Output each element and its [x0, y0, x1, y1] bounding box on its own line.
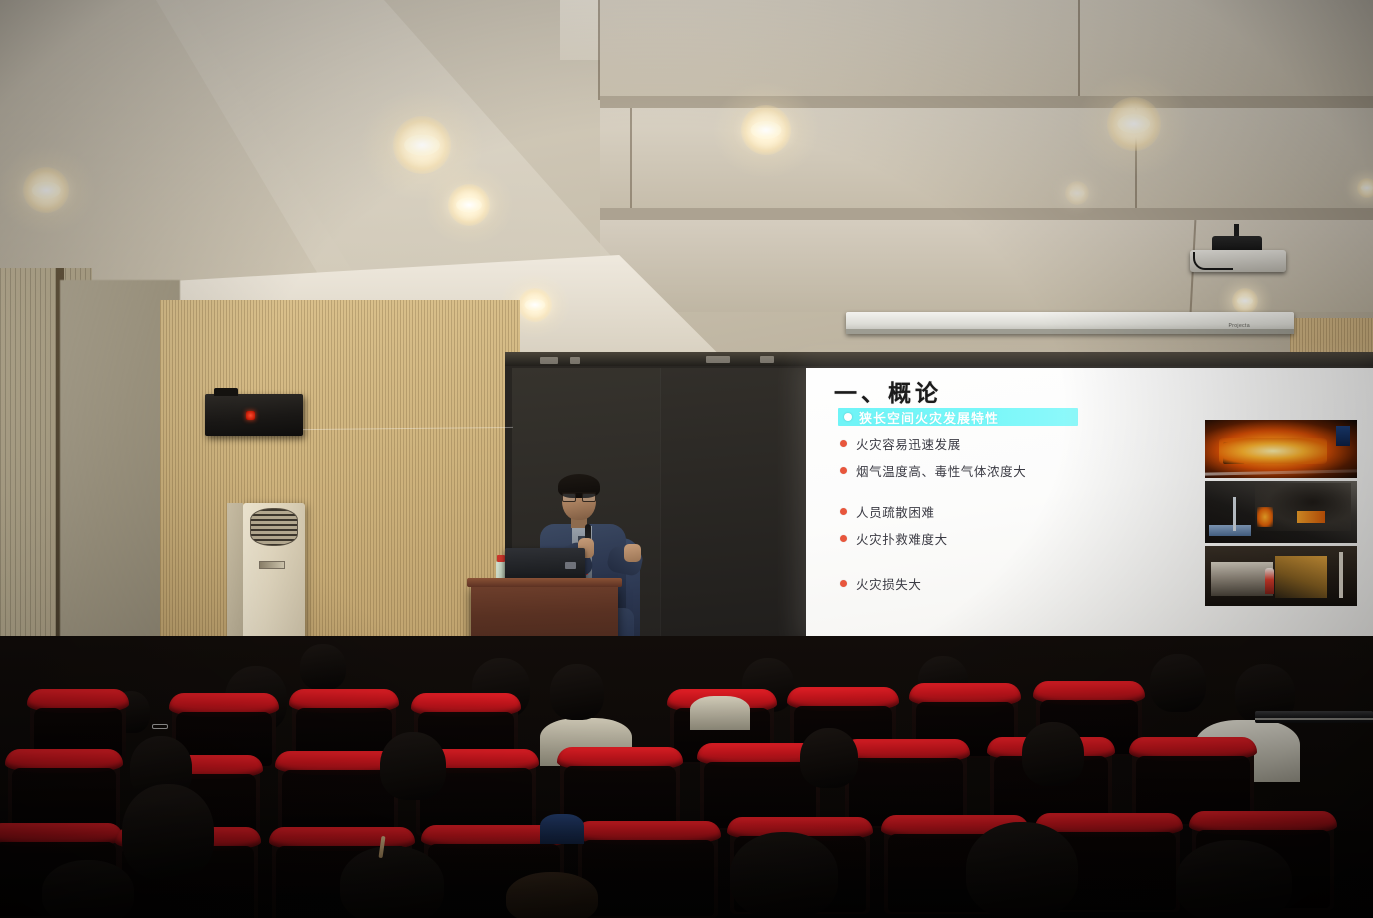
bullet-dot-icon — [840, 440, 847, 447]
audience-head — [730, 832, 838, 918]
ceiling-seam — [630, 108, 632, 208]
speaker-bracket — [214, 388, 238, 396]
rear-desk-rail-highlight — [1255, 718, 1373, 720]
seat — [8, 754, 120, 832]
audience-head — [550, 664, 604, 720]
section-bullet-dot-icon — [844, 413, 852, 421]
ceiling-downlight-icon — [23, 167, 69, 213]
ceiling-downlight-icon — [1107, 97, 1161, 151]
ceiling-downlight-icon — [518, 288, 552, 322]
ceiling-downlight-icon — [1357, 178, 1373, 198]
ceiling-slab-far — [600, 0, 1373, 96]
list-item: 火灾容易迅速发展 — [840, 434, 1120, 453]
burning-vehicle-photo — [1205, 420, 1357, 478]
slide-photo-column — [1205, 420, 1357, 609]
projection-screen-housing[interactable]: Projecta — [846, 312, 1294, 334]
ceiling-downlight-icon — [741, 105, 791, 155]
list-item: 人员疏散困难 — [840, 502, 1120, 521]
rear-desk-rail — [1255, 711, 1373, 723]
audience-head — [42, 860, 134, 918]
housing-bottom-rail — [846, 329, 1294, 334]
bullet-dot-icon — [840, 467, 847, 474]
stage-highlight — [760, 356, 774, 363]
presenter-right-hand — [624, 544, 641, 562]
bullet-dot-icon — [840, 535, 847, 542]
stage-backdrop-top-trim — [505, 352, 1373, 366]
bullet-text: 火灾损失大 — [856, 574, 922, 593]
ceiling-downlight-icon — [448, 184, 490, 226]
bullet-dot-icon — [840, 508, 847, 515]
bullet-dot-icon — [840, 580, 847, 587]
glasses-icon — [152, 724, 168, 729]
audience-head — [300, 644, 346, 690]
glasses-icon — [562, 492, 596, 499]
bottle-cap — [497, 555, 505, 562]
lectern-top-surface — [467, 578, 622, 587]
slide-title: 一、概论 — [834, 374, 942, 408]
projected-slide: 一、概论 狭长空间火灾发展特性 火灾容易迅速发展 烟气温度高、毒性气体浓度大 人… — [806, 368, 1373, 636]
ac-vent-grill-icon — [250, 508, 298, 546]
stage-highlight — [540, 357, 558, 364]
audience-seating — [0, 636, 1373, 918]
bullet-text: 烟气温度高、毒性气体浓度大 — [856, 461, 1026, 480]
list-item: 火灾扑救难度大 — [840, 529, 1120, 548]
audience-head — [1176, 840, 1292, 918]
slide-section-header: 狭长空间火灾发展特性 — [838, 408, 1078, 426]
audience-head — [966, 822, 1078, 918]
stage-highlight — [706, 356, 730, 363]
ceiling-seam — [1078, 0, 1080, 96]
projector-cable — [1193, 252, 1233, 270]
bullet-text: 火灾容易迅速发展 — [856, 434, 961, 453]
housing-brand-label: Projecta — [1228, 323, 1250, 329]
laptop-logo-icon — [565, 562, 576, 569]
audience-shoulder — [690, 696, 750, 730]
seat — [578, 826, 718, 918]
stage-highlight — [570, 357, 580, 364]
fire-aftermath-photo — [1205, 546, 1357, 606]
bullet-text: 人员疏散困难 — [856, 502, 935, 521]
speaker-power-led-icon — [246, 411, 255, 420]
ac-control-panel[interactable] — [259, 561, 285, 569]
list-item: 烟气温度高、毒性气体浓度大 — [840, 461, 1120, 480]
audience-head — [1150, 654, 1206, 712]
section-header-text: 狭长空间火灾发展特性 — [859, 408, 999, 427]
lecture-hall-photo: Projecta 一、概论 狭长空间火灾发展特性 火灾容易迅速发展 烟气温度高 — [0, 0, 1373, 918]
audience-head — [380, 732, 446, 800]
ceiling-downlight-icon — [1065, 181, 1089, 205]
ceiling-downlight-icon — [393, 116, 451, 174]
audience-shoulder — [540, 814, 584, 844]
ceiling-beam-1 — [600, 96, 1373, 108]
ceiling-seam — [598, 0, 600, 100]
audience-head — [1022, 722, 1084, 786]
bullet-text: 火灾扑救难度大 — [856, 529, 948, 548]
audience-head — [122, 784, 214, 880]
smoke-plume-photo — [1205, 481, 1357, 543]
ceiling-beam-2 — [600, 208, 1373, 220]
stage-dark-board-right — [660, 368, 808, 640]
audience-head — [340, 846, 444, 918]
audience-head — [506, 872, 598, 918]
ceiling-downlight-icon — [1232, 288, 1258, 314]
audience-head — [800, 728, 858, 788]
slide-bullet-list: 火灾容易迅速发展 烟气温度高、毒性气体浓度大 人员疏散困难 火灾扑救难度大 火灾… — [840, 434, 1120, 601]
wall-speaker — [205, 394, 303, 436]
list-item: 火灾损失大 — [840, 574, 1120, 593]
